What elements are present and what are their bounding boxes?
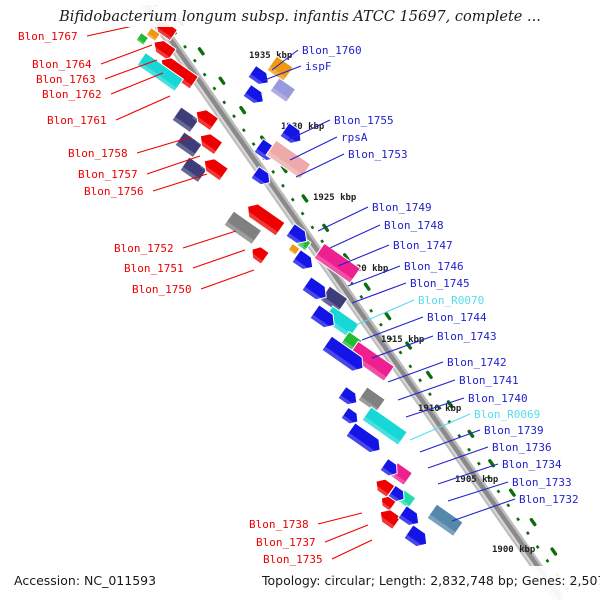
ruler-tick-label: 1915 kbp xyxy=(381,335,425,345)
ruler-guide-dots xyxy=(145,0,588,600)
leader-line xyxy=(330,225,380,248)
gene-label[interactable]: Blon_1739 xyxy=(484,424,544,437)
ruler-tick-label: 1900 kbp xyxy=(492,545,536,555)
gene-label[interactable]: Blon_1749 xyxy=(372,201,432,214)
leader-line xyxy=(201,270,254,289)
gene-feature[interactable] xyxy=(175,132,202,158)
gene-label[interactable]: rpsA xyxy=(341,131,368,144)
gene-label[interactable]: Blon_1755 xyxy=(334,114,394,127)
gene-labels-left[interactable]: Blon_1767Blon_1764Blon_1763Blon_1762Blon… xyxy=(18,30,323,566)
gene-label[interactable]: Blon_1751 xyxy=(124,262,184,275)
ruler-tick-label: 1925 kbp xyxy=(313,193,357,203)
gene-label[interactable]: Blon_R0070 xyxy=(418,294,484,307)
gene-feature[interactable] xyxy=(248,244,269,265)
leader-line xyxy=(111,73,163,94)
gene-feature[interactable] xyxy=(398,506,423,530)
gene-label[interactable]: Blon_1758 xyxy=(68,147,128,160)
gene-label[interactable]: Blon_1757 xyxy=(78,168,138,181)
leader-line xyxy=(87,26,133,36)
leader-line xyxy=(332,540,372,559)
gene-label[interactable]: Blon_1736 xyxy=(492,441,552,454)
leader-line xyxy=(318,513,362,524)
gene-label[interactable]: Blon_1747 xyxy=(393,239,453,252)
gene-feature[interactable] xyxy=(338,387,361,409)
genome-map-viewer: 1935 kbp1930 kbp1925 kbp1920 kbp1915 kbp… xyxy=(0,0,600,600)
leader-line xyxy=(352,283,406,303)
accession-label: Accession: NC_011593 xyxy=(14,573,156,588)
gene-label[interactable]: Blon_1752 xyxy=(114,242,174,255)
gene-label[interactable]: Blon_1734 xyxy=(502,458,562,471)
gene-feature[interactable] xyxy=(200,155,228,181)
gene-label[interactable]: Blon_1760 xyxy=(302,44,362,57)
leader-line xyxy=(325,525,368,542)
gene-feature[interactable] xyxy=(404,525,431,551)
gene-label[interactable]: Blon_1744 xyxy=(427,311,487,324)
gene-label[interactable]: Blon_1763 xyxy=(36,73,96,86)
gene-feature[interactable] xyxy=(196,130,223,155)
gene-label[interactable]: Blon_1764 xyxy=(32,58,92,71)
gene-label[interactable]: Blon_1761 xyxy=(47,114,107,127)
leader-line xyxy=(318,207,368,231)
leader-line xyxy=(153,174,207,191)
leader-line xyxy=(183,231,236,248)
gene-label[interactable]: Blon_1740 xyxy=(468,392,528,405)
gene-label[interactable]: Blon_1746 xyxy=(404,260,464,273)
title-scrim-top xyxy=(0,0,600,5)
leader-line xyxy=(193,250,245,268)
gene-label[interactable]: Blon_1748 xyxy=(384,219,444,232)
gene-label[interactable]: Blon_1743 xyxy=(437,330,497,343)
gene-label[interactable]: Blon_1742 xyxy=(447,356,507,369)
genome-map-canvas[interactable]: 1935 kbp1930 kbp1925 kbp1920 kbp1915 kbp… xyxy=(0,0,600,600)
gene-label[interactable]: Blon_1732 xyxy=(519,493,579,506)
gene-label[interactable]: Blon_R0069 xyxy=(474,408,540,421)
gene-label[interactable]: Blon_1745 xyxy=(410,277,470,290)
sequence-summary: Topology: circular; Length: 2,832,748 bp… xyxy=(261,573,600,588)
gene-label[interactable]: Blon_1762 xyxy=(42,88,102,101)
gene-label[interactable]: Blon_1738 xyxy=(249,518,309,531)
gene-label[interactable]: Blon_1756 xyxy=(84,185,144,198)
gene-label[interactable]: Blon_1741 xyxy=(459,374,519,387)
gene-label[interactable]: ispF xyxy=(305,60,332,73)
page-title: Bifidobacterium longum subsp. infantis A… xyxy=(58,9,541,25)
gene-label[interactable]: Blon_1767 xyxy=(18,30,78,43)
gene-feature[interactable] xyxy=(427,504,463,536)
gene-label[interactable]: Blon_1735 xyxy=(263,553,323,566)
gene-feature[interactable] xyxy=(270,78,296,103)
gene-label[interactable]: Blon_1750 xyxy=(132,283,192,296)
gene-label[interactable]: Blon_1737 xyxy=(256,536,316,549)
leader-line xyxy=(116,96,170,120)
gene-feature[interactable] xyxy=(341,407,362,427)
gene-label[interactable]: Blon_1733 xyxy=(512,476,572,489)
gene-label[interactable]: Blon_1753 xyxy=(348,148,408,161)
